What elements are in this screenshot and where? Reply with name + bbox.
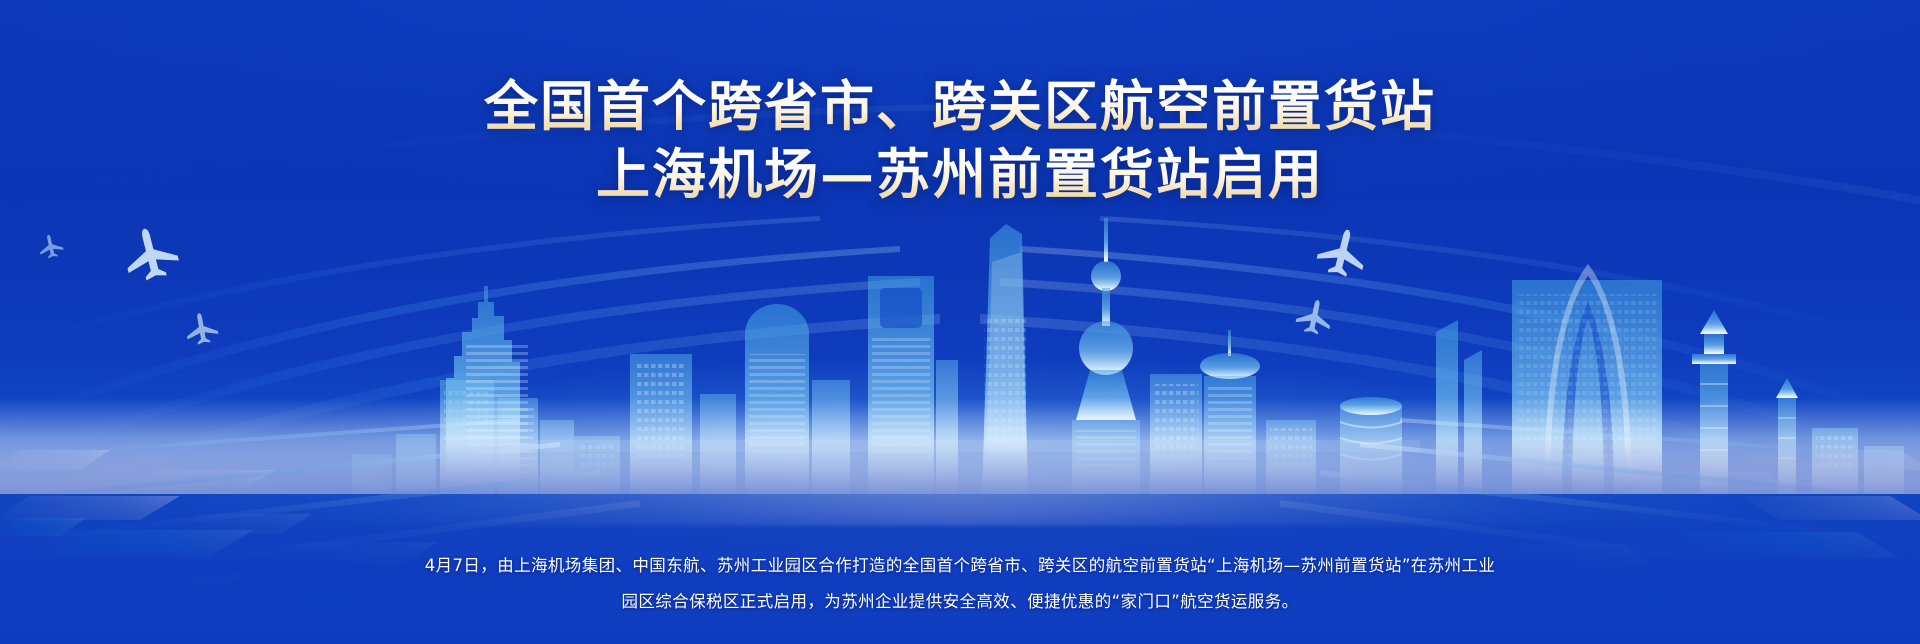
- light-streaks-bottom: [0, 0, 1920, 644]
- banner-stage: 全国首个跨省市、跨关区航空前置货站 上海机场—苏州前置货站启用 4月7日，由上海…: [0, 0, 1920, 644]
- headline-line-1: 全国首个跨省市、跨关区航空前置货站: [0, 72, 1920, 140]
- airplane-silhouette-left: [112, 215, 190, 287]
- airplane-silhouette-right-lower: [1289, 292, 1340, 338]
- airplane-silhouette-right: [1307, 218, 1378, 283]
- airplane-silhouette-left-lower: [179, 307, 224, 347]
- caption: 4月7日，由上海机场集团、中国东航、苏州工业园区合作打造的全国首个跨省市、跨关区…: [340, 548, 1580, 620]
- headline-line-2: 上海机场—苏州前置货站启用: [0, 140, 1920, 208]
- airplane-silhouette-left-small: [34, 229, 69, 261]
- light-streaks-top: [0, 0, 1920, 644]
- caption-line-2: 园区综合保税区正式启用，为苏州企业提供安全高效、便捷优惠的“家门口”航空货运服务…: [340, 584, 1580, 620]
- horizon-glow: [0, 306, 1920, 526]
- headline: 全国首个跨省市、跨关区航空前置货站 上海机场—苏州前置货站启用: [0, 72, 1920, 208]
- skyline: [0, 184, 1920, 494]
- caption-line-1: 4月7日，由上海机场集团、中国东航、苏州工业园区合作打造的全国首个跨省市、跨关区…: [340, 548, 1580, 584]
- caption-backdrop: [0, 439, 1920, 644]
